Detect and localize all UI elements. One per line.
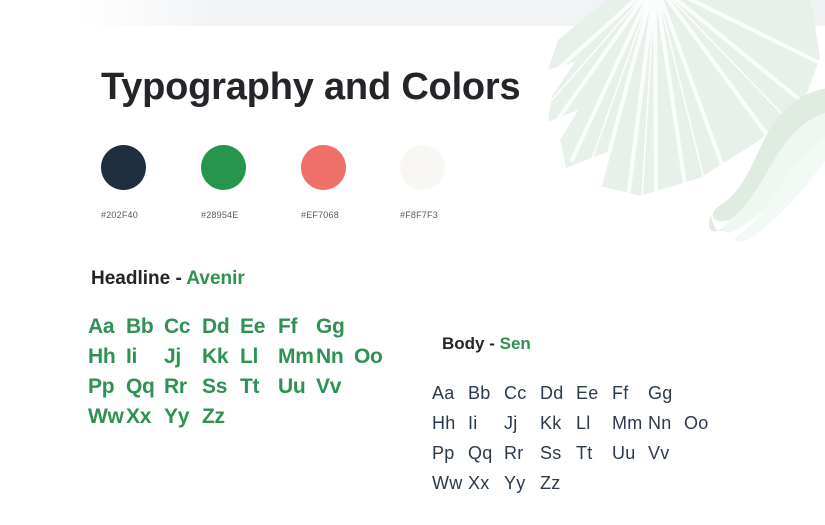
alphabet-pair: Aa xyxy=(88,312,126,342)
slide-canvas: Typography and Colors #202F40 #28954E #E… xyxy=(0,0,825,525)
headline-alphabet-grid: Aa Bb Cc Dd Ee Ff Gg Hh Ii Jj Kk Ll Mm N… xyxy=(88,312,392,432)
alphabet-pair: Hh xyxy=(432,408,468,438)
alphabet-pair: Ii xyxy=(468,408,504,438)
color-swatch-navy[interactable]: #202F40 xyxy=(101,145,201,220)
alphabet-pair: Kk xyxy=(540,408,576,438)
alphabet-pair: Bb xyxy=(468,378,504,408)
alphabet-pair: Ww xyxy=(88,402,126,432)
alphabet-pair: Kk xyxy=(202,342,240,372)
body-alphabet-row: Hh Ii Jj Kk Ll Mm Nn Oo xyxy=(432,408,720,438)
alphabet-pair: Cc xyxy=(164,312,202,342)
alphabet-pair: Vv xyxy=(316,372,354,402)
alphabet-pair: Mm xyxy=(612,408,648,438)
body-alphabet-row: Pp Qq Rr Ss Tt Uu Vv xyxy=(432,438,720,468)
alphabet-pair: Qq xyxy=(468,438,504,468)
slide-content: Typography and Colors #202F40 #28954E #E… xyxy=(0,0,825,525)
alphabet-pair: Ff xyxy=(278,312,316,342)
color-swatch-coral[interactable]: #EF7068 xyxy=(301,145,401,220)
alphabet-pair: Uu xyxy=(612,438,648,468)
alphabet-pair: Tt xyxy=(576,438,612,468)
alphabet-pair: Yy xyxy=(164,402,202,432)
alphabet-pair: Ss xyxy=(202,372,240,402)
color-swatch-dot-coral xyxy=(301,145,346,190)
alphabet-pair: Nn xyxy=(648,408,684,438)
alphabet-pair: Yy xyxy=(504,468,540,498)
alphabet-pair: Oo xyxy=(684,408,720,438)
headline-alphabet-row: Hh Ii Jj Kk Ll Mm Nn Oo xyxy=(88,342,392,372)
alphabet-pair: Mm xyxy=(278,342,316,372)
alphabet-pair: Ss xyxy=(540,438,576,468)
alphabet-pair: Xx xyxy=(126,402,164,432)
headline-alphabet-row: Ww Xx Yy Zz xyxy=(88,402,392,432)
body-font-name: Sen xyxy=(500,334,531,353)
alphabet-pair: Rr xyxy=(504,438,540,468)
color-hex-label-green: #28954E xyxy=(201,210,301,220)
alphabet-pair: Ii xyxy=(126,342,164,372)
alphabet-pair: Bb xyxy=(126,312,164,342)
color-hex-label-navy: #202F40 xyxy=(101,210,201,220)
color-hex-label-offwhite: #F8F7F3 xyxy=(400,210,500,220)
headline-font-label: Headline - Avenir xyxy=(91,268,245,290)
body-label-dash: - xyxy=(485,334,500,353)
color-hex-label-coral: #EF7068 xyxy=(301,210,401,220)
alphabet-pair: Ee xyxy=(240,312,278,342)
alphabet-pair: Aa xyxy=(432,378,468,408)
alphabet-pair: Gg xyxy=(648,378,684,408)
alphabet-pair: Nn xyxy=(316,342,354,372)
alphabet-pair: Uu xyxy=(278,372,316,402)
alphabet-pair: Zz xyxy=(202,402,240,432)
headline-alphabet-row: Aa Bb Cc Dd Ee Ff Gg xyxy=(88,312,392,342)
alphabet-pair: Dd xyxy=(540,378,576,408)
alphabet-pair: Ll xyxy=(576,408,612,438)
body-alphabet-grid: Aa Bb Cc Dd Ee Ff Gg Hh Ii Jj Kk Ll Mm N… xyxy=(432,378,720,498)
headline-font-name: Avenir xyxy=(186,268,244,289)
headline-label-dash: - xyxy=(170,268,186,289)
alphabet-pair: Vv xyxy=(648,438,684,468)
alphabet-pair: Rr xyxy=(164,372,202,402)
alphabet-pair: Jj xyxy=(164,342,202,372)
color-palette: #202F40 #28954E #EF7068 #F8F7F3 xyxy=(101,145,521,220)
alphabet-pair: Pp xyxy=(88,372,126,402)
alphabet-pair: Cc xyxy=(504,378,540,408)
color-swatch-dot-green xyxy=(201,145,246,190)
alphabet-pair: Ww xyxy=(432,468,468,498)
color-swatch-green[interactable]: #28954E xyxy=(201,145,301,220)
body-alphabet-row: Aa Bb Cc Dd Ee Ff Gg xyxy=(432,378,720,408)
alphabet-pair: Gg xyxy=(316,312,354,342)
alphabet-pair: Ff xyxy=(612,378,648,408)
alphabet-pair: Jj xyxy=(504,408,540,438)
headline-label-text: Headline xyxy=(91,268,170,289)
alphabet-pair: Dd xyxy=(202,312,240,342)
page-title: Typography and Colors xyxy=(101,66,520,109)
color-swatch-offwhite[interactable]: #F8F7F3 xyxy=(400,145,500,220)
alphabet-pair: Pp xyxy=(432,438,468,468)
alphabet-pair: Ll xyxy=(240,342,278,372)
headline-alphabet-row: Pp Qq Rr Ss Tt Uu Vv xyxy=(88,372,392,402)
color-swatch-dot-offwhite xyxy=(400,145,445,190)
body-label-text: Body xyxy=(442,334,485,353)
alphabet-pair: Qq xyxy=(126,372,164,402)
alphabet-pair: Zz xyxy=(540,468,576,498)
alphabet-pair: Tt xyxy=(240,372,278,402)
alphabet-pair: Xx xyxy=(468,468,504,498)
alphabet-pair: Hh xyxy=(88,342,126,372)
color-swatch-dot-navy xyxy=(101,145,146,190)
body-alphabet-row: Ww Xx Yy Zz xyxy=(432,468,720,498)
alphabet-pair: Oo xyxy=(354,342,392,372)
alphabet-pair: Ee xyxy=(576,378,612,408)
body-font-label: Body - Sen xyxy=(442,334,531,354)
